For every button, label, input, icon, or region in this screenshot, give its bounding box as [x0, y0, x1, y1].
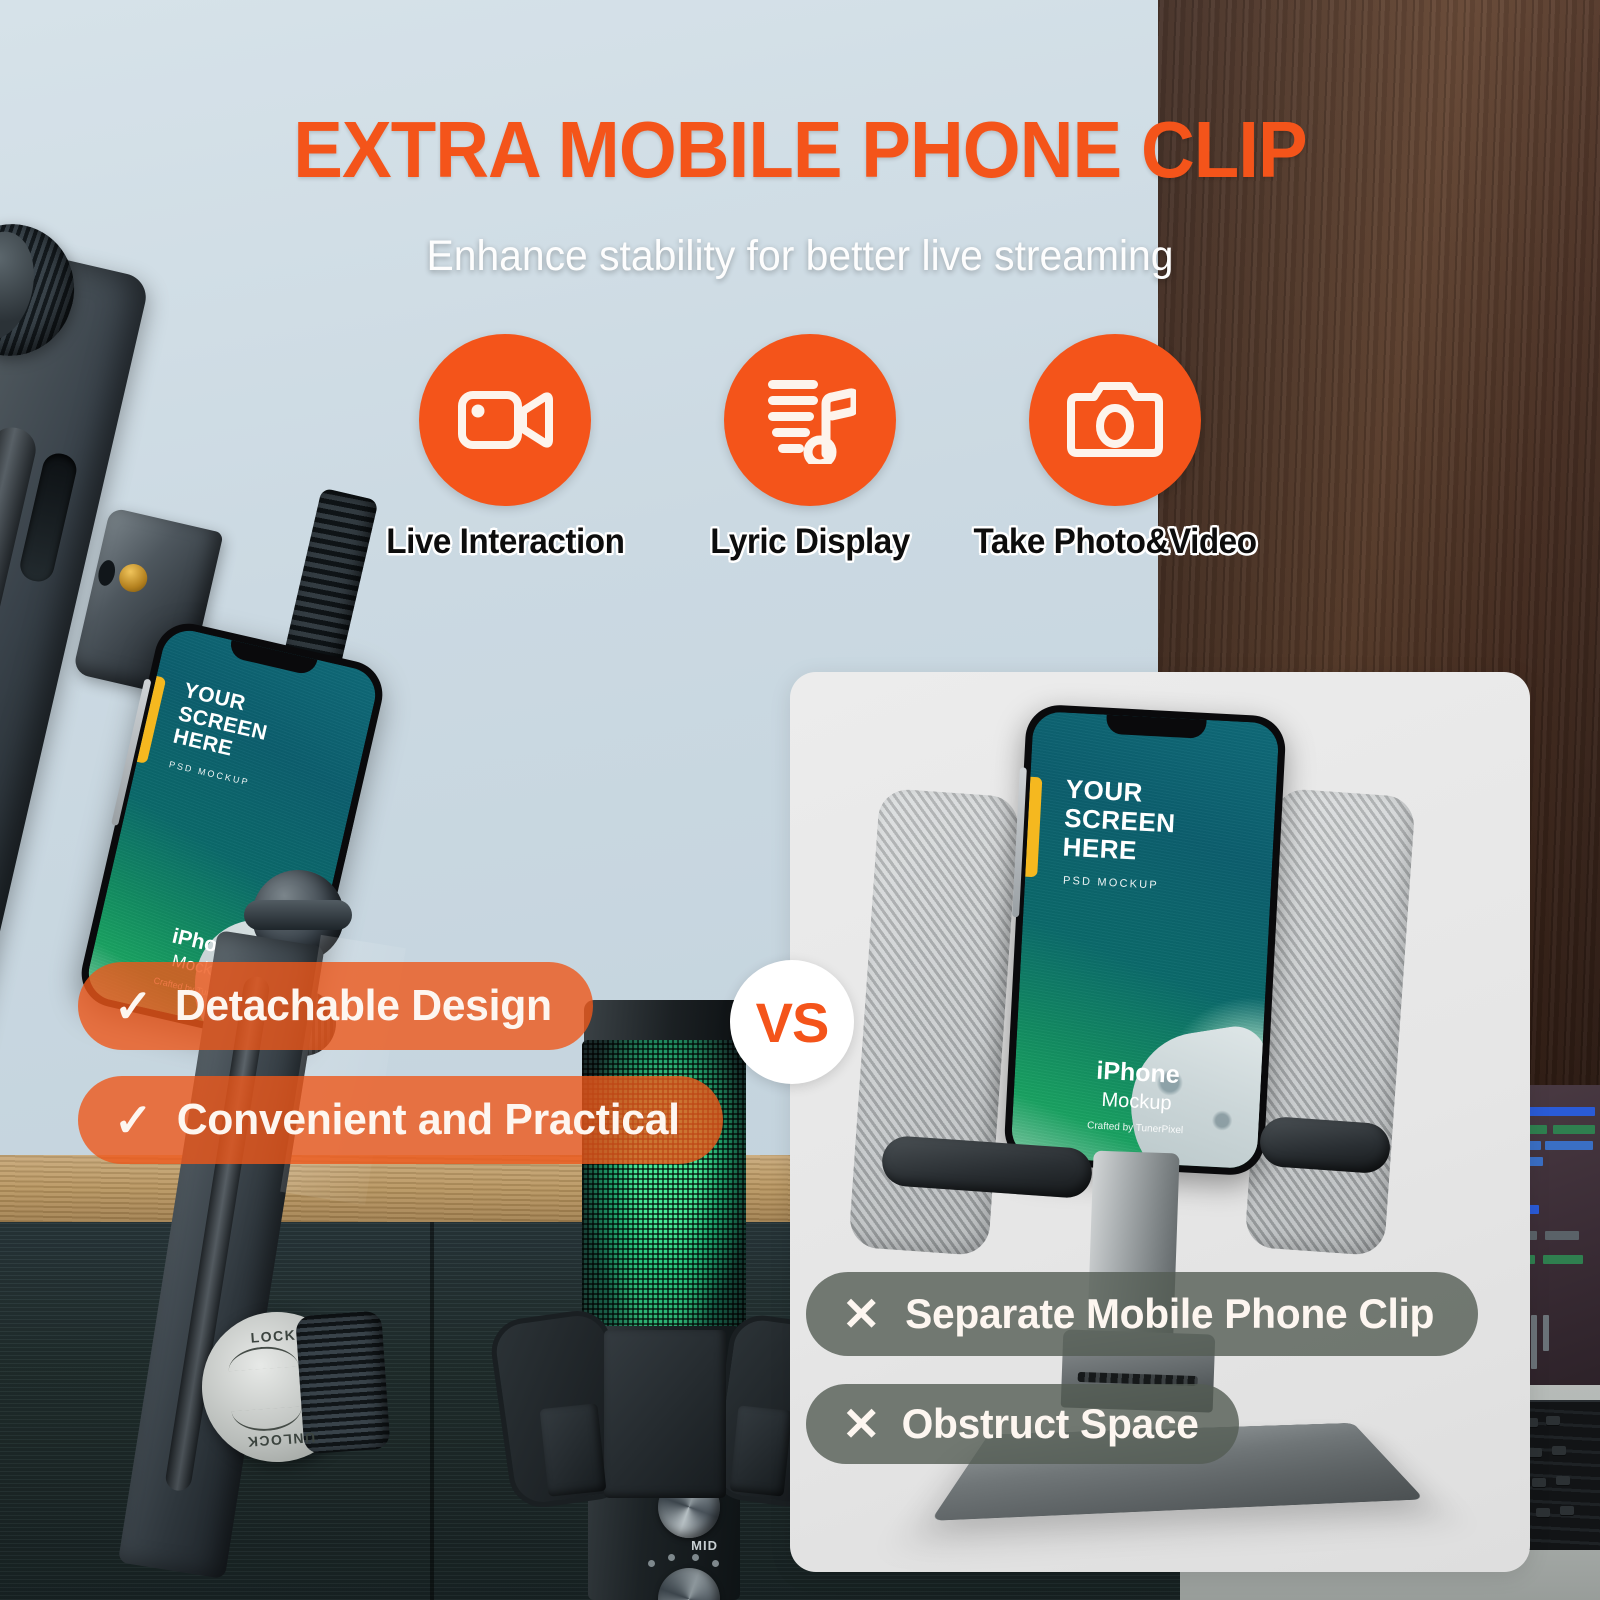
check-icon: ✓ — [114, 1097, 153, 1143]
pro-pill-detachable-design[interactable]: ✓ Detachable Design — [78, 962, 593, 1050]
check-icon: ✓ — [114, 983, 153, 1029]
con-pill-label: Separate Mobile Phone Clip — [905, 1290, 1434, 1338]
con-pill-label: Obstruct Space — [901, 1400, 1198, 1448]
feature-label: Lyric Display — [710, 522, 910, 562]
phone-clip-right-jaw — [283, 488, 378, 669]
feature-icon-row: Live Interaction Lyric Display — [380, 334, 1240, 594]
music-note-lyrics-icon — [724, 334, 896, 506]
mounted-phone-right: YOUR SCREEN HERE PSD MOCKUP iPhone Mocku… — [1003, 704, 1287, 1177]
clip-hole — [96, 558, 117, 587]
product-marketing-image: YOUR SCREEN HERE PSD MOCKUP iPhone Mocku… — [0, 0, 1600, 1600]
feature-lyric-display[interactable]: Lyric Display — [685, 334, 935, 562]
con-pill-separate-mobile-phone-clip[interactable]: ✕ Separate Mobile Phone Clip — [806, 1272, 1478, 1356]
page-title: EXTRA MOBILE PHONE CLIP — [56, 104, 1544, 196]
video-camera-icon — [419, 334, 591, 506]
arm-slot — [17, 450, 79, 584]
pro-pill-convenient-and-practical[interactable]: ✓ Convenient and Practical — [78, 1076, 723, 1164]
page-subtitle: Enhance stability for better live stream… — [40, 232, 1560, 281]
cross-icon: ✕ — [842, 1291, 881, 1337]
screen-headline: YOUR SCREEN HERE — [1026, 773, 1276, 873]
feature-live-interaction[interactable]: Live Interaction — [380, 334, 630, 562]
feature-label: Live Interaction — [386, 522, 624, 562]
pro-pill-label: Detachable Design — [174, 981, 551, 1031]
feature-label: Take Photo&Video — [973, 522, 1256, 562]
photo-camera-icon — [1029, 334, 1201, 506]
pro-pill-label: Convenient and Practical — [176, 1095, 679, 1145]
cross-icon: ✕ — [842, 1401, 881, 1447]
feature-take-photo-video[interactable]: Take Photo&Video — [990, 334, 1240, 562]
shock-mount — [494, 1300, 834, 1600]
con-pill-obstruct-space[interactable]: ✕ Obstruct Space — [806, 1384, 1239, 1464]
lock-unlock-knob: LOCK UNLOCK — [197, 1307, 357, 1467]
clip-brass-screw — [116, 561, 150, 595]
versus-badge: VS — [730, 960, 854, 1084]
stand-front-lip-right — [1258, 1116, 1391, 1175]
phone-screen-right: YOUR SCREEN HERE PSD MOCKUP iPhone Mocku… — [1010, 711, 1279, 1169]
